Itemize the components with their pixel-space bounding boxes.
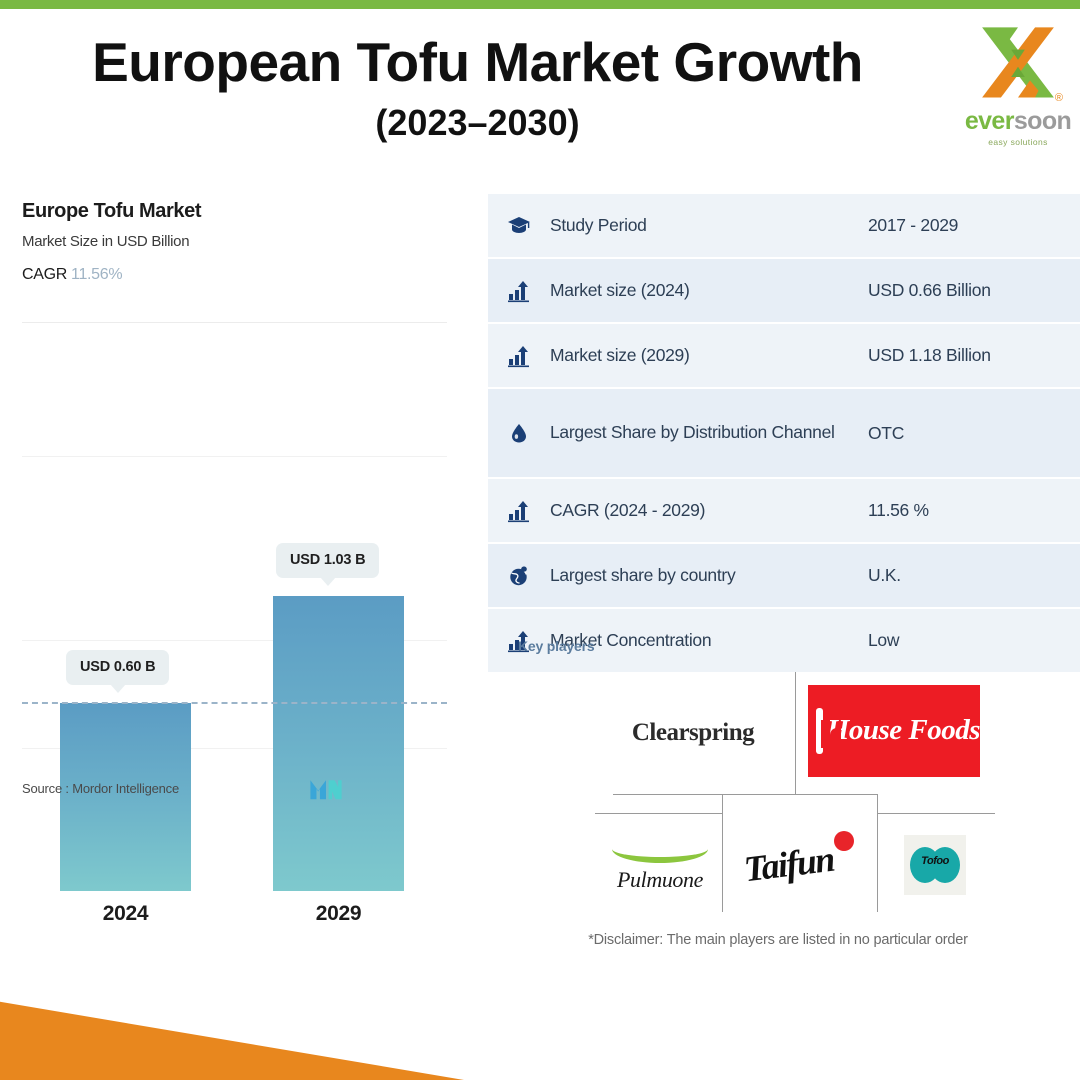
table-row: Market size (2029) USD 1.18 Billion xyxy=(488,324,1080,389)
header: European Tofu Market Growth (2023–2030) … xyxy=(0,18,1080,168)
chart-header: Europe Tofu Market Market Size in USD Bi… xyxy=(0,190,470,284)
logo-house-foods-text: House Foods xyxy=(827,714,980,747)
fact-label: Market size (2029) xyxy=(550,342,868,369)
market-facts-table: Study Period 2017 - 2029 Market size (20… xyxy=(488,194,1080,672)
brand-wordmark-soon: soon xyxy=(1014,107,1071,135)
logo-clearspring-text: Clearspring xyxy=(632,719,754,747)
table-row: Market size (2024) USD 0.66 Billion xyxy=(488,259,1080,324)
fact-label: Largest share by country xyxy=(550,562,868,589)
logo-house-foods: House Foods xyxy=(801,678,987,783)
brand-wordmark-ever: ever xyxy=(965,107,1014,135)
fact-value: 11.56 % xyxy=(868,500,1080,521)
logo-taifun-text: Taifun xyxy=(742,838,836,891)
brand-tagline: easy solutions xyxy=(964,137,1072,147)
table-row: CAGR (2024 - 2029) 11.56 % xyxy=(488,479,1080,544)
logo-house-foods-box: House Foods xyxy=(808,685,980,777)
chart-subtitle: Market Size in USD Billion xyxy=(22,233,470,250)
key-players-grid: Clearspring House Foods Pulmuone Taifun … xyxy=(595,668,995,918)
bar-label-2029: USD 1.03 B xyxy=(276,543,379,578)
chart-source-text: Source : Mordor Intelligence xyxy=(22,781,179,796)
page-subtitle: (2023–2030) xyxy=(0,104,955,142)
title-block: European Tofu Market Growth (2023–2030) xyxy=(0,34,955,142)
table-row: Largest Share by Distribution Channel OT… xyxy=(488,389,1080,479)
fact-label: Study Period xyxy=(550,212,868,239)
chart-divider xyxy=(22,322,447,323)
globe-icon xyxy=(488,564,550,588)
grid-divider xyxy=(722,794,723,912)
fact-label: CAGR (2024 - 2029) xyxy=(550,497,868,524)
fact-value: USD 1.18 Billion xyxy=(868,345,1080,366)
gridline xyxy=(22,456,447,457)
logo-taifun-inner: Taifun xyxy=(740,829,860,899)
grid-divider xyxy=(877,794,878,912)
eversoon-logo: ® eversoon easy solutions xyxy=(964,24,1072,152)
page-title: European Tofu Market Growth xyxy=(0,34,955,92)
graduation-cap-icon xyxy=(488,214,550,238)
logo-clearspring: Clearspring xyxy=(595,700,791,766)
taifun-red-dot-icon xyxy=(834,831,854,851)
eversoon-x-mark-icon: ® xyxy=(975,24,1061,106)
grid-divider xyxy=(595,813,722,814)
chart-cagr-label: CAGR xyxy=(22,266,67,283)
top-accent-bar xyxy=(0,0,1080,9)
bottom-orange-wedge xyxy=(0,990,464,1080)
fact-label: Market Concentration xyxy=(550,627,868,654)
x-axis-label-2029: 2029 xyxy=(273,902,404,926)
brand-wordmark: eversoon xyxy=(964,109,1072,134)
logo-tofoo: Tofoo xyxy=(895,830,975,900)
bar-chart-plot: USD 0.60 B USD 1.03 B 2024 2029 xyxy=(0,330,470,730)
chart-title: Europe Tofu Market xyxy=(22,200,470,223)
table-row: Study Period 2017 - 2029 xyxy=(488,194,1080,259)
chart-cagr-value: 11.56% xyxy=(71,266,122,283)
logo-pulmuone: Pulmuone xyxy=(601,828,719,900)
fact-value: Low xyxy=(868,630,1080,651)
x-axis-label-2024: 2024 xyxy=(60,902,191,926)
fact-value: OTC xyxy=(868,423,1080,444)
bar-2029 xyxy=(273,596,404,891)
logo-pulmuone-inner: Pulmuone xyxy=(612,835,708,893)
fact-label: Largest Share by Distribution Channel xyxy=(550,419,868,446)
mordor-intelligence-logo-icon xyxy=(308,775,344,801)
logo-pulmuone-text: Pulmuone xyxy=(612,867,708,893)
fact-value: USD 0.66 Billion xyxy=(868,280,1080,301)
chart-source-row: Source : Mordor Intelligence xyxy=(22,775,447,805)
house-foods-h-mark-icon xyxy=(816,708,823,754)
key-players-heading: Key players xyxy=(518,638,594,654)
grid-divider xyxy=(795,794,877,795)
logo-tofoo-box: Tofoo xyxy=(904,835,966,895)
key-players-disclaimer: *Disclaimer: The main players are listed… xyxy=(498,932,1058,948)
fact-value: U.K. xyxy=(868,565,1080,586)
registered-mark: ® xyxy=(1055,92,1063,104)
pulmuone-arc-icon xyxy=(612,835,708,863)
grid-divider xyxy=(877,813,995,814)
table-row: Largest share by country U.K. xyxy=(488,544,1080,609)
bar-chart-arrow-icon xyxy=(488,279,550,303)
fact-value: 2017 - 2029 xyxy=(868,215,1080,236)
bar-label-2024: USD 0.60 B xyxy=(66,650,169,685)
grid-divider xyxy=(613,794,795,795)
logo-taifun: Taifun xyxy=(735,826,865,902)
bar-chart-arrow-icon xyxy=(488,499,550,523)
fact-label: Market size (2024) xyxy=(550,277,868,304)
chart-card: Europe Tofu Market Market Size in USD Bi… xyxy=(0,190,470,820)
logo-tofoo-text: Tofoo xyxy=(910,855,960,867)
droplet-icon xyxy=(488,421,550,445)
grid-divider xyxy=(795,672,796,794)
tofoo-blob-icon: Tofoo xyxy=(910,845,960,885)
reference-dashed-line xyxy=(22,702,447,704)
bar-chart-arrow-icon xyxy=(488,344,550,368)
chart-cagr: CAGR11.56% xyxy=(22,266,470,284)
